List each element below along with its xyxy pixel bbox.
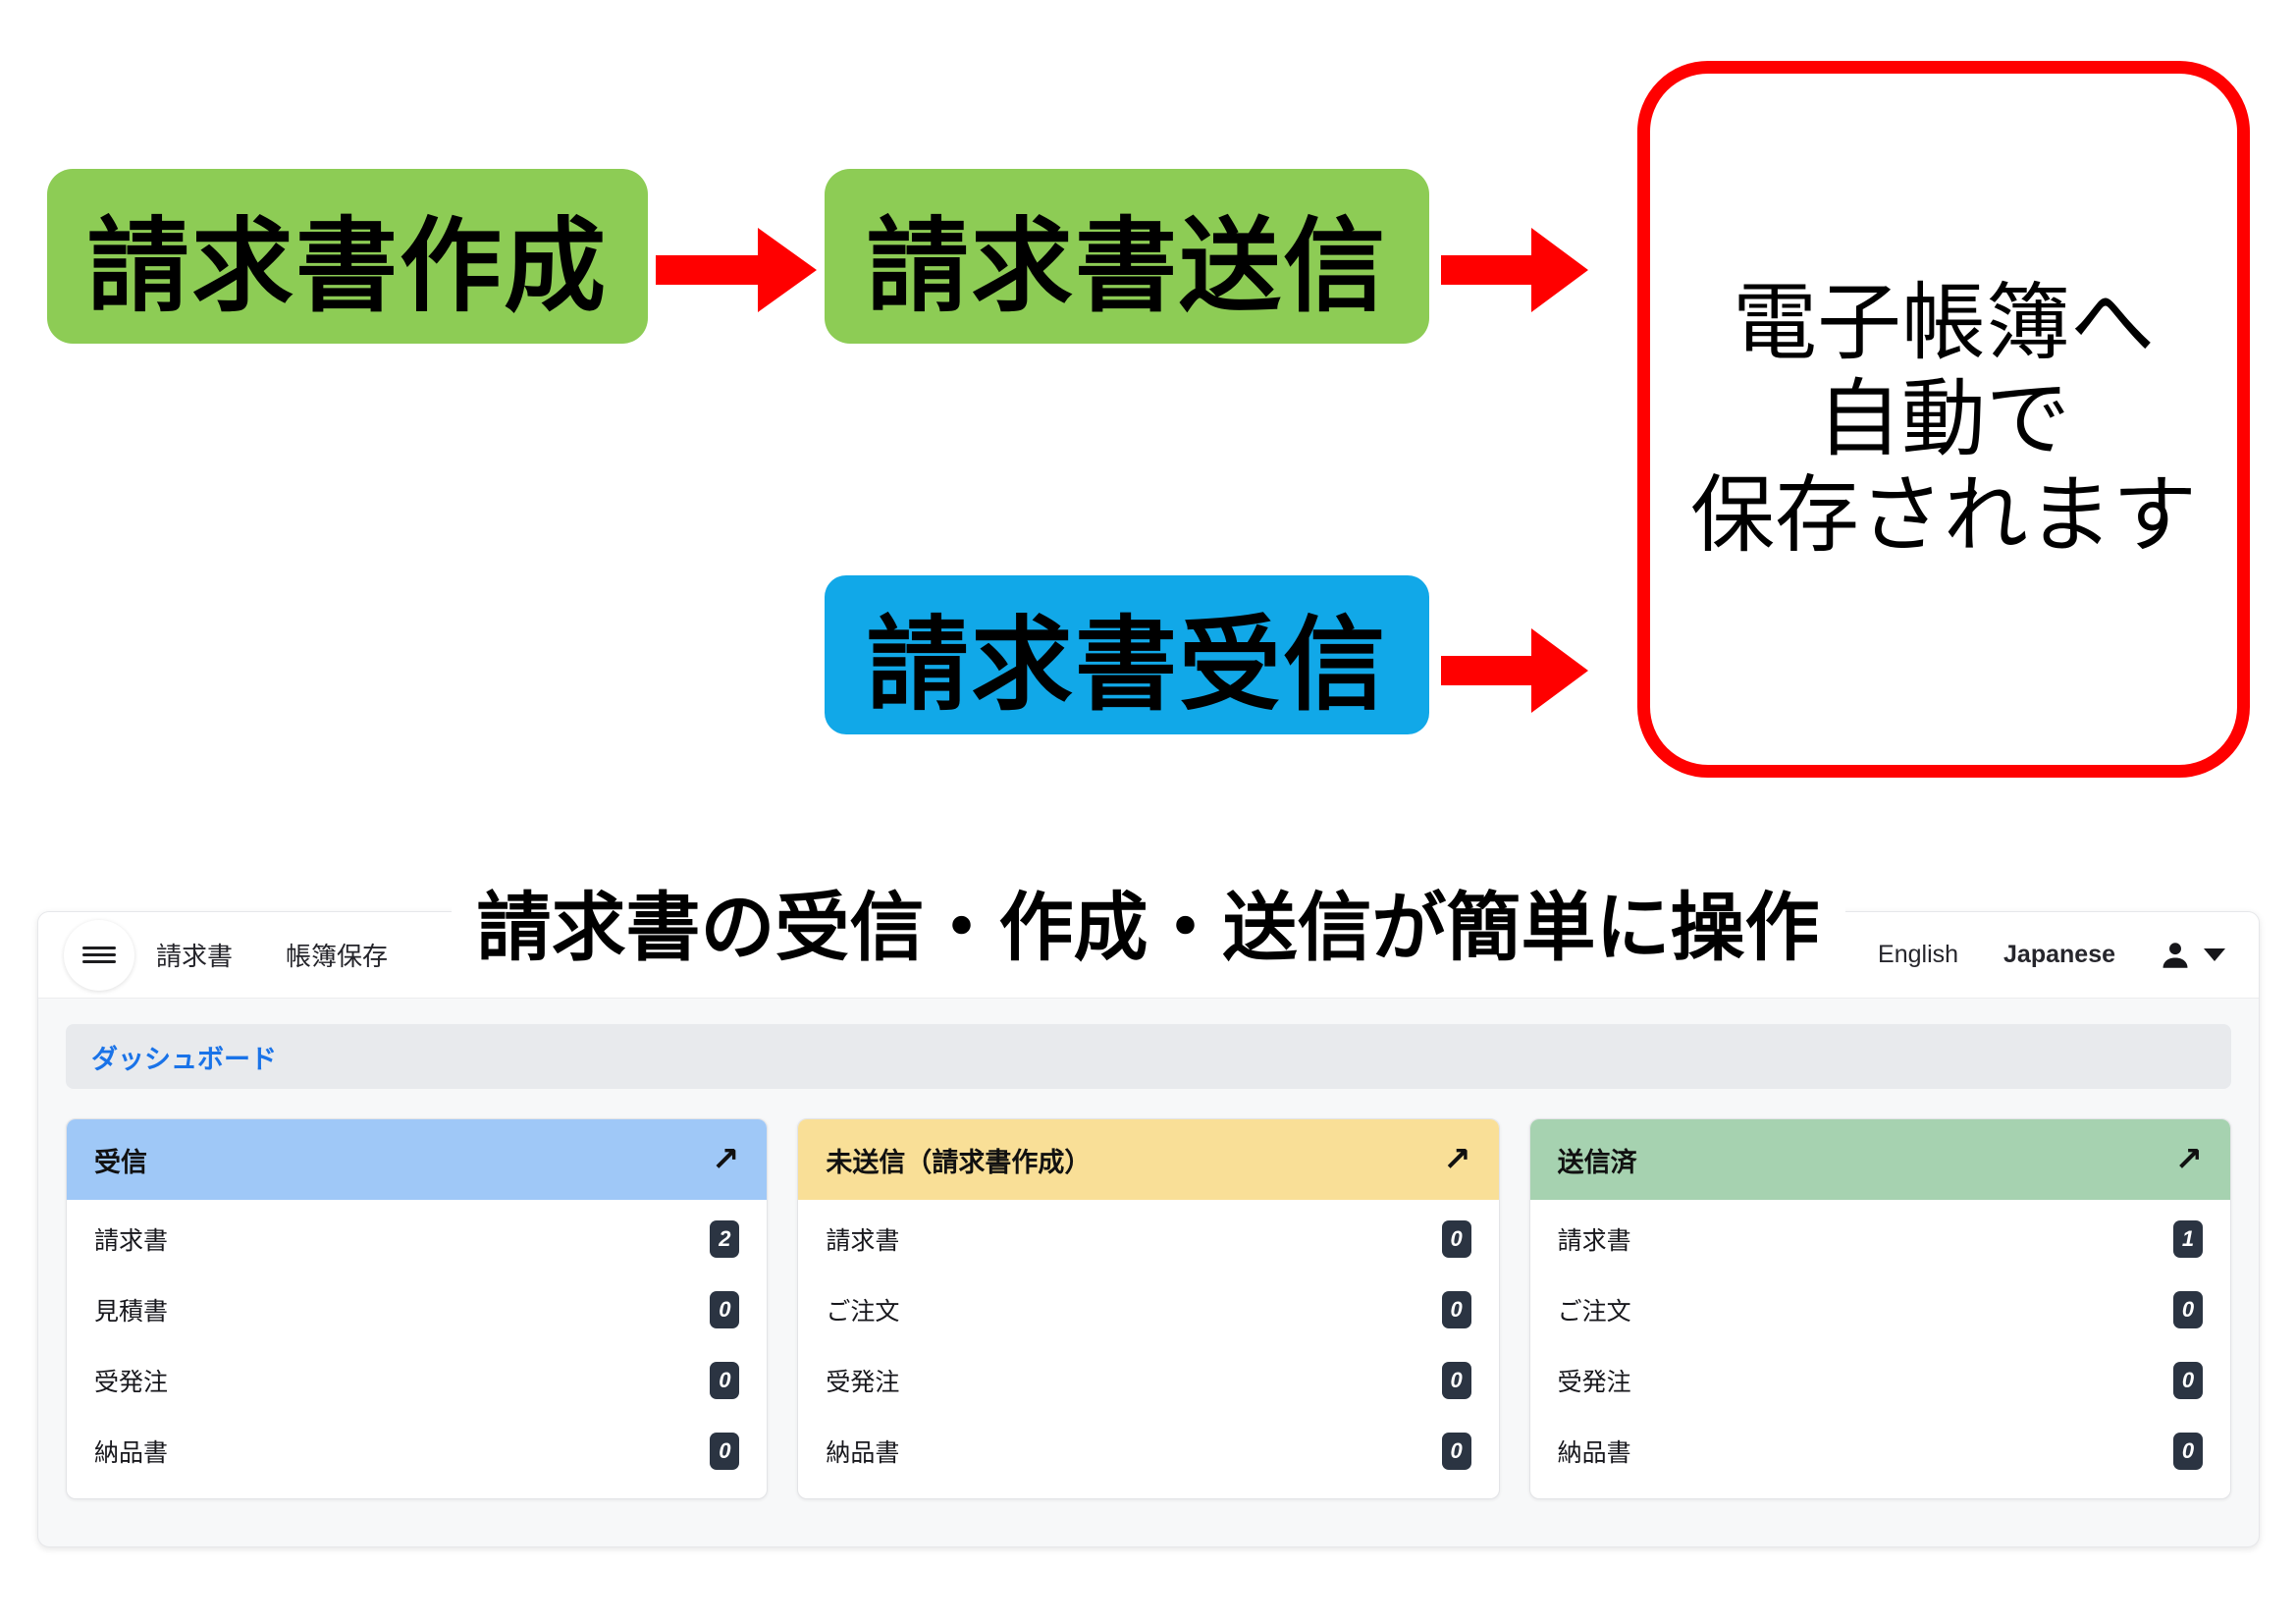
row-label: 請求書	[826, 1221, 899, 1257]
count-badge: 0	[1442, 1291, 1471, 1328]
app-topbar: 請求書 帳簿保存 English Japanese	[38, 912, 2259, 999]
flow-step-send-invoice-label: 請求書送信	[867, 183, 1387, 331]
count-badge: 0	[710, 1291, 739, 1328]
card-header-unsent[interactable]: 未送信（請求書作成） ↗	[798, 1119, 1498, 1200]
list-item[interactable]: 見積書 0	[67, 1274, 767, 1345]
count-badge: 2	[710, 1220, 739, 1258]
nav-item-ledger-storage[interactable]: 帳簿保存	[286, 937, 388, 973]
flow-arrow-right-icon-2	[1441, 228, 1588, 312]
list-item[interactable]: 納品書 0	[798, 1416, 1498, 1487]
list-item[interactable]: 請求書 2	[67, 1204, 767, 1274]
count-badge: 0	[710, 1433, 739, 1470]
dashboard-card-sent: 送信済 ↗ 請求書 1 ご注文 0 受発注 0	[1529, 1118, 2231, 1499]
arrow-up-right-icon[interactable]: ↗	[1443, 1143, 1471, 1176]
count-badge: 1	[2173, 1220, 2203, 1258]
person-icon	[2159, 939, 2192, 972]
list-item[interactable]: 請求書 1	[1530, 1204, 2230, 1274]
hamburger-bar	[82, 953, 116, 956]
hamburger-bar	[82, 947, 116, 949]
dashboard-card-unsent: 未送信（請求書作成） ↗ 請求書 0 ご注文 0 受発注 0	[797, 1118, 1499, 1499]
card-rows-unsent: 請求書 0 ご注文 0 受発注 0 納品書 0	[798, 1200, 1498, 1498]
arrow-up-right-icon[interactable]: ↗	[2174, 1143, 2203, 1176]
count-badge: 0	[2173, 1433, 2203, 1470]
hamburger-icon[interactable]	[64, 920, 134, 991]
list-item[interactable]: 納品書 0	[1530, 1416, 2230, 1487]
flow-step-create-invoice-label: 請求書作成	[87, 183, 608, 331]
app-window: 請求書 帳簿保存 English Japanese ダッシュボード 受信 ↗	[37, 911, 2260, 1547]
row-label: 受発注	[94, 1363, 168, 1398]
nav-item-invoice[interactable]: 請求書	[156, 937, 233, 973]
list-item[interactable]: 受発注 0	[798, 1345, 1498, 1416]
flow-result-line-1: 電子帳簿へ	[1733, 275, 2155, 371]
dashboard-card-received: 受信 ↗ 請求書 2 見積書 0 受発注 0	[66, 1118, 768, 1499]
lang-option-japanese[interactable]: Japanese	[2003, 941, 2115, 969]
flow-result-box: 電子帳簿へ 自動で 保存されます	[1637, 61, 2250, 778]
hamburger-bar	[82, 960, 116, 963]
lang-option-english[interactable]: English	[1878, 941, 1958, 969]
flow-step-receive-invoice-label: 請求書受信	[867, 581, 1387, 730]
card-rows-received: 請求書 2 見積書 0 受発注 0 納品書 0	[67, 1200, 767, 1498]
card-title-received: 受信	[94, 1141, 147, 1179]
count-badge: 0	[1442, 1362, 1471, 1399]
row-label: 受発注	[826, 1363, 899, 1398]
chevron-down-icon	[2204, 948, 2225, 961]
card-rows-sent: 請求書 1 ご注文 0 受発注 0 納品書 0	[1530, 1200, 2230, 1498]
list-item[interactable]: ご注文 0	[798, 1274, 1498, 1345]
flow-step-send-invoice: 請求書送信	[825, 169, 1429, 344]
card-title-unsent: 未送信（請求書作成）	[826, 1141, 1091, 1179]
list-item[interactable]: ご注文 0	[1530, 1274, 2230, 1345]
row-label: 見積書	[94, 1292, 168, 1327]
count-badge: 0	[710, 1362, 739, 1399]
card-header-received[interactable]: 受信 ↗	[67, 1119, 767, 1200]
flow-result-line-3: 保存されます	[1690, 467, 2197, 564]
row-label: ご注文	[1558, 1292, 1631, 1327]
card-title-sent: 送信済	[1558, 1141, 1637, 1179]
flow-result-line-2: 自動で	[1817, 371, 2070, 467]
row-label: 請求書	[94, 1221, 168, 1257]
flow-arrow-right-icon-3	[1441, 628, 1588, 713]
flow-step-receive-invoice: 請求書受信	[825, 575, 1429, 734]
flow-arrow-right-icon-1	[656, 228, 817, 312]
list-item[interactable]: 納品書 0	[67, 1416, 767, 1487]
row-label: 請求書	[1558, 1221, 1631, 1257]
count-badge: 0	[2173, 1362, 2203, 1399]
dashboard-cards: 受信 ↗ 請求書 2 見積書 0 受発注 0	[66, 1118, 2231, 1499]
row-label: 納品書	[94, 1434, 168, 1469]
arrow-up-right-icon[interactable]: ↗	[712, 1143, 740, 1176]
list-item[interactable]: 受発注 0	[1530, 1345, 2230, 1416]
count-badge: 0	[1442, 1220, 1471, 1258]
list-item[interactable]: 受発注 0	[67, 1345, 767, 1416]
breadcrumb: ダッシュボード	[66, 1024, 2231, 1089]
row-label: 受発注	[1558, 1363, 1631, 1398]
breadcrumb-item-dashboard[interactable]: ダッシュボード	[91, 1038, 277, 1076]
row-label: 納品書	[1558, 1434, 1631, 1469]
card-header-sent[interactable]: 送信済 ↗	[1530, 1119, 2230, 1200]
row-label: 納品書	[826, 1434, 899, 1469]
account-menu[interactable]	[2159, 939, 2225, 972]
count-badge: 0	[1442, 1433, 1471, 1470]
row-label: ご注文	[826, 1292, 899, 1327]
list-item[interactable]: 請求書 0	[798, 1204, 1498, 1274]
process-flow-diagram: 請求書作成 請求書送信 請求書受信 電子帳簿へ 自動で 保存されます	[0, 0, 2296, 884]
flow-step-create-invoice: 請求書作成	[47, 169, 648, 344]
count-badge: 0	[2173, 1291, 2203, 1328]
